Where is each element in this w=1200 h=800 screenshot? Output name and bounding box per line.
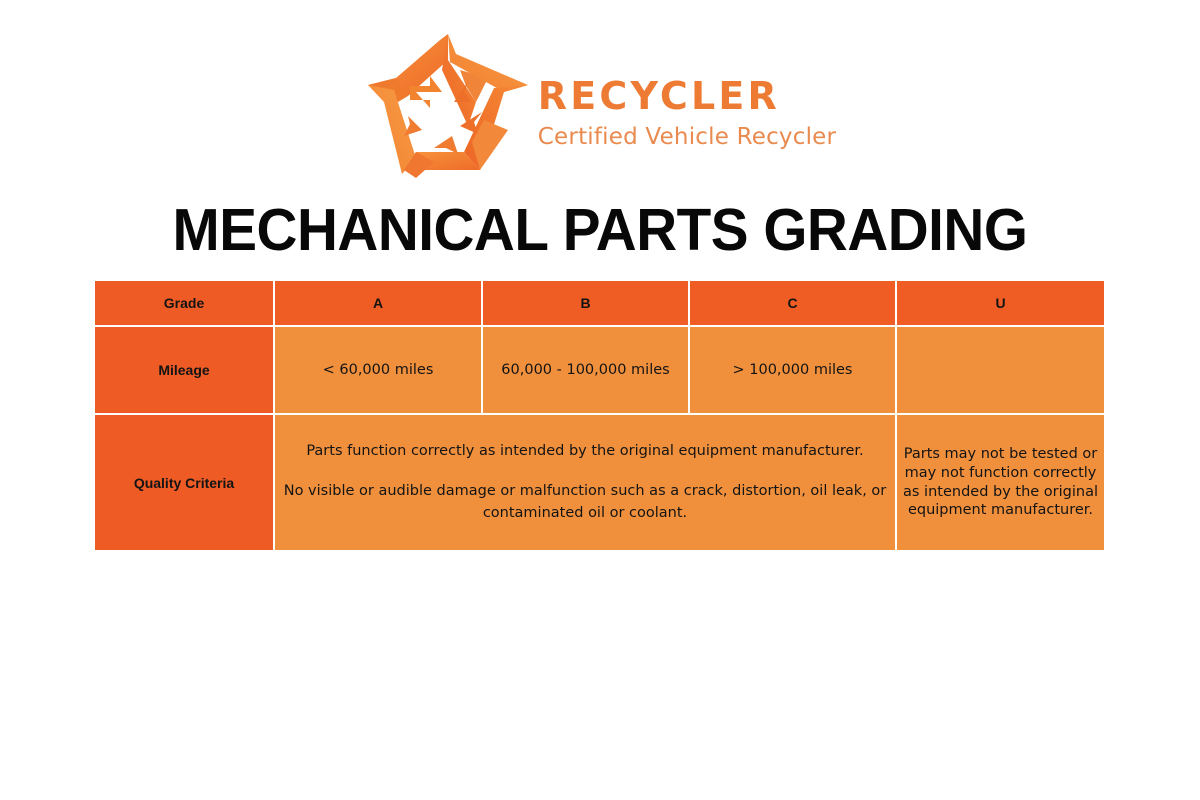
row-label-quality-criteria: Quality Criteria <box>95 415 275 550</box>
cell-mileage-a: < 60,000 miles <box>275 327 483 415</box>
quality-paragraph-1: Parts function correctly as intended by … <box>275 440 895 462</box>
cell-quality-abc: Parts function correctly as intended by … <box>275 415 897 550</box>
brand-logo: RECYCLER Certified Vehicle Recycler <box>0 28 1200 183</box>
page-title: MECHANICAL PARTS GRADING <box>24 196 1176 264</box>
logo-brand-text: RECYCLER <box>538 77 836 115</box>
cell-mileage-c: > 100,000 miles <box>690 327 897 415</box>
recycling-star-icon <box>364 30 532 182</box>
table-row-mileage: Mileage < 60,000 miles 60,000 - 100,000 … <box>95 327 1104 415</box>
column-header-c: C <box>690 281 897 327</box>
column-header-b: B <box>483 281 690 327</box>
logo-tagline-text: Certified Vehicle Recycler <box>538 126 836 149</box>
table-row-quality-criteria: Quality Criteria Parts function correctl… <box>95 415 1104 550</box>
row-label-mileage: Mileage <box>95 327 275 415</box>
quality-paragraph-2: No visible or audible damage or malfunct… <box>275 480 895 525</box>
cell-mileage-b: 60,000 - 100,000 miles <box>483 327 690 415</box>
mechanical-parts-grading-table: Grade A B C U Mileage < 60,000 miles 60,… <box>95 281 1104 550</box>
column-header-grade: Grade <box>95 281 275 327</box>
column-header-u: U <box>897 281 1104 327</box>
cell-mileage-u <box>897 327 1104 415</box>
cell-quality-u: Parts may not be tested or may not funct… <box>897 415 1104 550</box>
column-header-a: A <box>275 281 483 327</box>
table-header-row: Grade A B C U <box>95 281 1104 327</box>
